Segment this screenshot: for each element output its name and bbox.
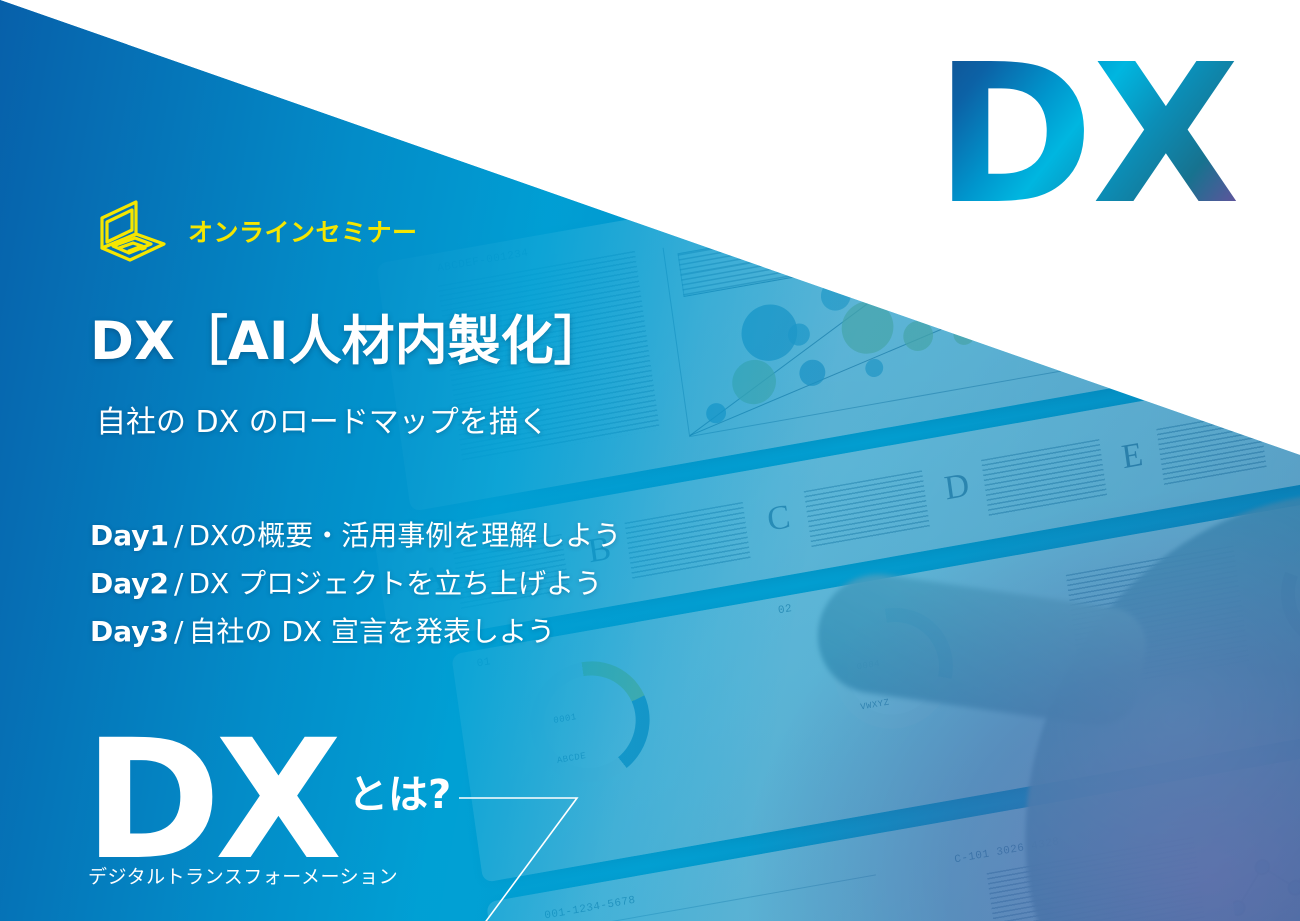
day-key: Day3 xyxy=(90,615,169,648)
day-text: 自社の DX 宣言を発表しよう xyxy=(188,615,555,648)
bubble xyxy=(864,358,884,379)
program-day-list: Day1/DXの概要・活用事例を理解しよう Day2/DX プロジェクトを立ち上… xyxy=(90,512,621,656)
page-title: DX［AI人材内製化］ xyxy=(90,314,607,370)
gauge-donut-01 xyxy=(522,652,657,792)
gauge-index-02: 02 xyxy=(777,603,793,617)
day-separator: / xyxy=(169,615,188,648)
letter-D: D xyxy=(942,466,971,508)
laptop-icon xyxy=(96,196,170,266)
list-item: Day1/DXの概要・活用事例を理解しよう xyxy=(90,512,621,560)
letter-E: E xyxy=(1119,436,1145,477)
day-text: DX プロジェクトを立ち上げよう xyxy=(188,567,602,600)
text-block xyxy=(625,502,751,580)
text-block xyxy=(981,439,1107,517)
series-code-1: 001-1234-5678 xyxy=(544,895,637,921)
day-separator: / xyxy=(169,567,188,600)
day-text: DXの概要・活用事例を理解しよう xyxy=(188,519,621,552)
text-block xyxy=(804,470,930,548)
gauge-label-01: ABCDE xyxy=(556,751,586,766)
online-seminar-label: オンラインセミナー xyxy=(188,213,418,249)
bubble xyxy=(787,322,812,348)
footer-dx-wordmark: DX xyxy=(84,718,336,883)
sheet-code-a: ABCDEF-001234 xyxy=(437,247,530,275)
bubble xyxy=(705,401,727,424)
bubble xyxy=(798,358,827,388)
dx-logo-wordmark: DX xyxy=(935,40,1238,232)
day-key: Day2 xyxy=(90,567,169,600)
list-item: Day3/自社の DX 宣言を発表しよう xyxy=(90,608,621,656)
bubble xyxy=(738,300,801,365)
gauge-label-02: VWXYZ xyxy=(860,697,890,712)
online-seminar-badge: オンラインセミナー xyxy=(96,196,418,266)
divider xyxy=(541,874,876,921)
bubble xyxy=(729,356,778,407)
page-subtitle: 自社の DX のロードマップを描く xyxy=(96,405,549,441)
day-separator: / xyxy=(169,519,188,552)
footer-question-label: とは? xyxy=(348,762,451,820)
list-item: Day2/DX プロジェクトを立ち上げよう xyxy=(90,560,621,608)
gauge-value-01: 0001 xyxy=(553,712,578,726)
footer-dx-caption: デジタルトランスフォーメーション xyxy=(88,862,398,889)
letter-C: C xyxy=(765,498,793,540)
chart-y-axis xyxy=(663,248,690,436)
day-key: Day1 xyxy=(90,519,169,552)
seminar-poster: ABCDEF-001234 xyxy=(0,0,1300,921)
gauge-index-01: 01 xyxy=(476,656,492,670)
